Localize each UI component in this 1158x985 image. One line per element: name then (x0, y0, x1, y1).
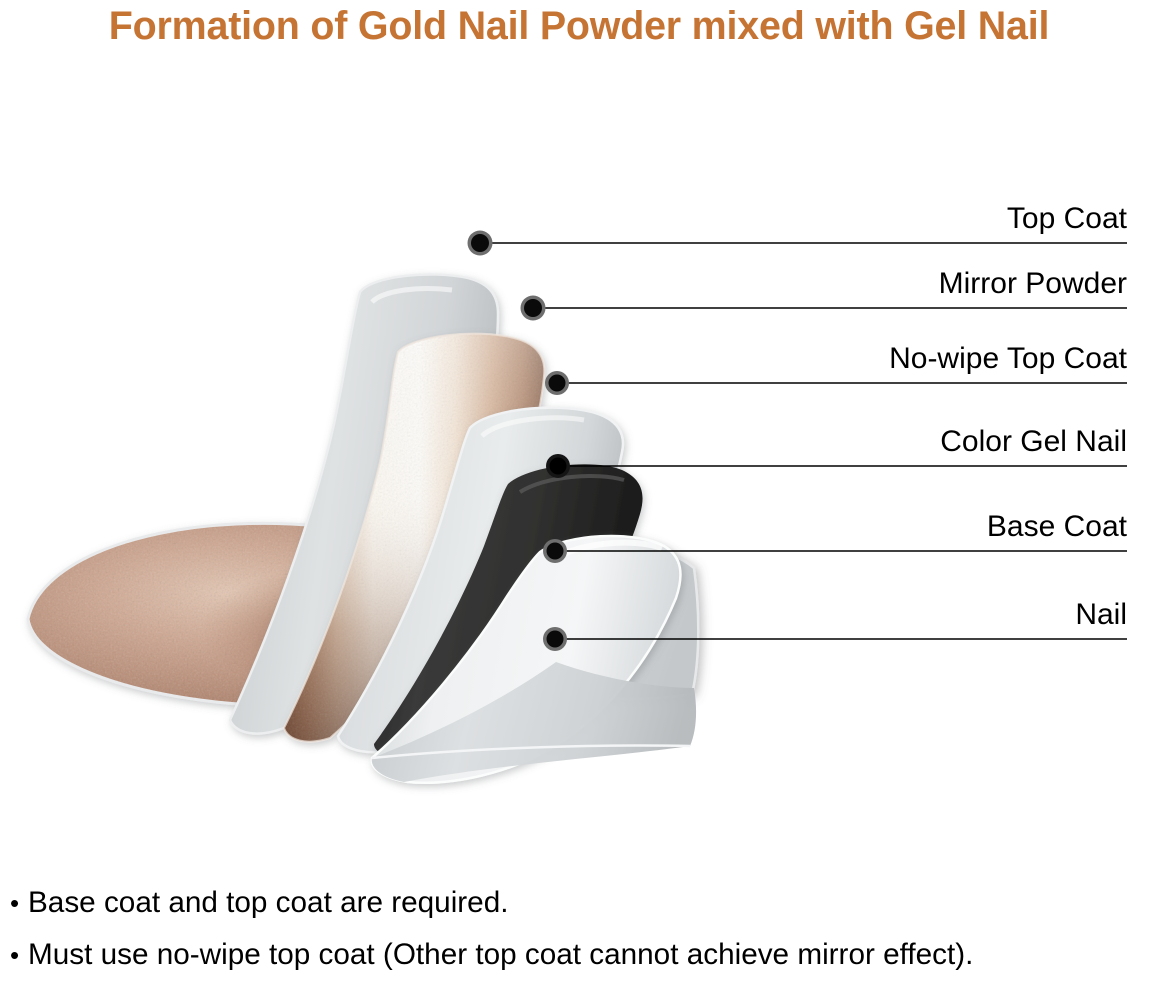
callout-label-color-gel-nail: Color Gel Nail (940, 426, 1127, 458)
callout-label-nail: Nail (1075, 599, 1127, 631)
note-item: • Must use no-wipe top coat (Other top c… (0, 932, 1158, 984)
bullet-icon: • (10, 932, 28, 978)
callout-dot-base-coat (543, 539, 567, 563)
callout-dot-top-coat (468, 231, 493, 256)
bullet-icon: • (10, 880, 28, 926)
page-title: Formation of Gold Nail Powder mixed with… (9, 0, 1150, 52)
callout-label-no-wipe-top-coat: No-wipe Top Coat (889, 343, 1127, 375)
callout-label-mirror-powder: Mirror Powder (939, 268, 1127, 300)
note-item: • Base coat and top coat are required. (0, 880, 1158, 932)
nail-layer-diagram: Top Coat Mirror Powder No-wipe Top Coat … (0, 52, 1158, 862)
callout-label-base-coat: Base Coat (987, 511, 1127, 543)
note-text: Base coat and top coat are required. (28, 880, 508, 926)
callout-dot-color-gel-nail (546, 454, 570, 478)
callout-dot-no-wipe-top-coat (545, 371, 569, 395)
note-text: Must use no-wipe top coat (Other top coa… (28, 932, 973, 978)
notes-list: • Base coat and top coat are required. •… (0, 880, 1158, 984)
callout-label-top-coat: Top Coat (1007, 203, 1127, 235)
callout-dot-mirror-powder (521, 296, 546, 321)
callout-dot-nail (543, 627, 567, 651)
